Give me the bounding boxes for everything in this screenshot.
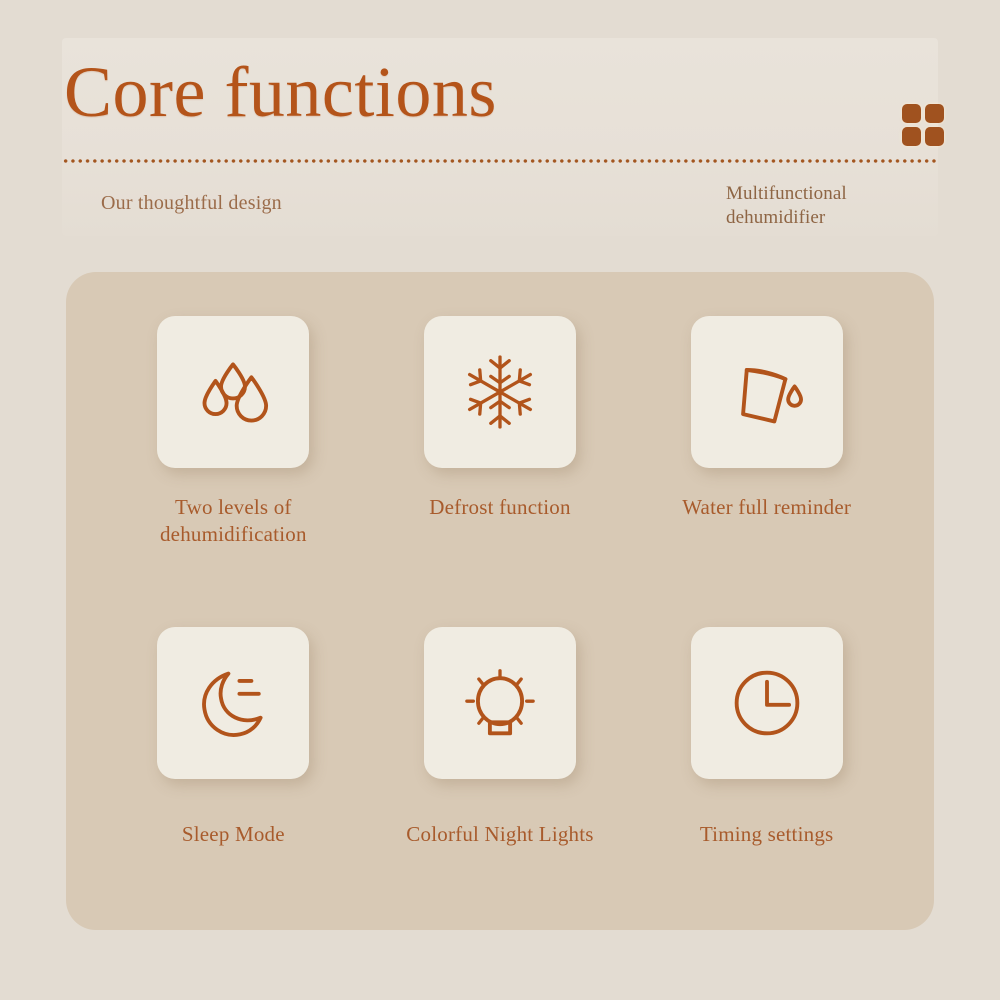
feature-icon-card[interactable] — [691, 316, 843, 468]
grid-cell-bottom-left — [902, 127, 921, 146]
feature-caption-line2: dehumidification — [160, 521, 307, 548]
dotted-divider — [62, 158, 938, 164]
feature-item[interactable]: Sleep Mode — [100, 609, 367, 902]
feature-icon-card[interactable] — [424, 627, 576, 779]
feature-icon-card[interactable] — [157, 627, 309, 779]
water-droplets-icon — [187, 346, 279, 438]
feature-icon-card[interactable] — [424, 316, 576, 468]
feature-caption-line1: Two levels of — [160, 494, 307, 521]
feature-caption-line1: Colorful Night Lights — [406, 821, 593, 848]
feature-icon-card[interactable] — [157, 316, 309, 468]
feature-caption: Sleep Mode — [182, 821, 285, 848]
feature-caption: Defrost function — [429, 494, 570, 521]
feature-caption: Two levels of dehumidification — [160, 494, 307, 548]
feature-caption-line1: Water full reminder — [682, 494, 851, 521]
subtitle-right: Multifunctional dehumidifier — [726, 182, 936, 231]
grid-cell-top-left — [902, 104, 921, 123]
snowflake-icon — [454, 346, 546, 438]
features-panel: Two levels of dehumidification — [66, 272, 934, 930]
feature-caption: Colorful Night Lights — [406, 821, 593, 848]
feature-icon-card[interactable] — [691, 627, 843, 779]
page-title: Core functions — [64, 56, 497, 128]
features-grid: Two levels of dehumidification — [66, 272, 934, 930]
header: Core functions Our thoughtful design Mul… — [0, 0, 1000, 256]
feature-caption-line1: Defrost function — [429, 494, 570, 521]
feature-caption: Timing settings — [700, 821, 834, 848]
grid-cell-bottom-right — [925, 127, 944, 146]
feature-item[interactable]: Two levels of dehumidification — [100, 316, 367, 609]
grid-2x2-icon — [902, 104, 944, 146]
feature-caption: Water full reminder — [682, 494, 851, 521]
light-bulb-icon — [454, 657, 546, 749]
crescent-moon-icon — [187, 657, 279, 749]
feature-caption-line1: Timing settings — [700, 821, 834, 848]
feature-item[interactable]: Timing settings — [633, 609, 900, 902]
subtitle-right-line2: dehumidifier — [726, 206, 936, 230]
feature-item[interactable]: Defrost function — [367, 316, 634, 609]
feature-item[interactable]: Water full reminder — [633, 316, 900, 609]
subtitle-left: Our thoughtful design — [101, 192, 282, 215]
subtitle-right-line1: Multifunctional — [726, 182, 936, 206]
feature-caption-line1: Sleep Mode — [182, 821, 285, 848]
grid-cell-top-right — [925, 104, 944, 123]
feature-item[interactable]: Colorful Night Lights — [367, 609, 634, 902]
water-tank-full-icon — [721, 346, 813, 438]
clock-icon — [721, 657, 813, 749]
